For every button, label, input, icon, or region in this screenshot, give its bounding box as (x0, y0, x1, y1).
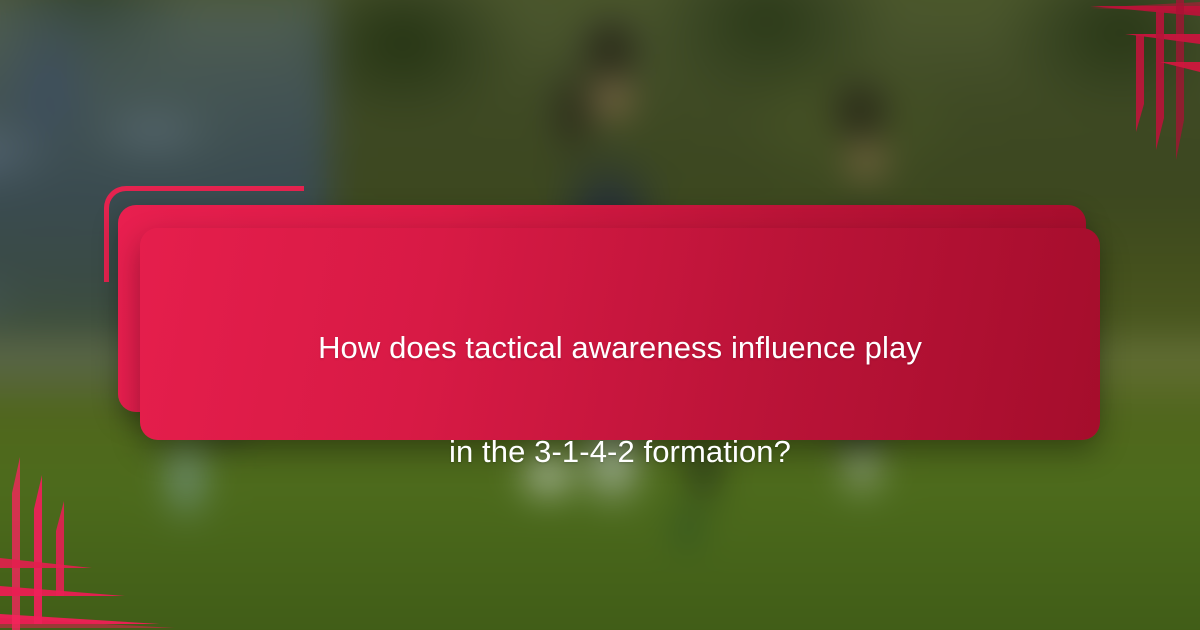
headline-line-1: How does tactical awareness influence pl… (170, 322, 1070, 374)
headline-line-2: in the 3-1-4-2 formation? (170, 426, 1070, 478)
card-headline: How does tactical awareness influence pl… (170, 270, 1070, 530)
social-card-canvas: How does tactical awareness influence pl… (0, 0, 1200, 630)
